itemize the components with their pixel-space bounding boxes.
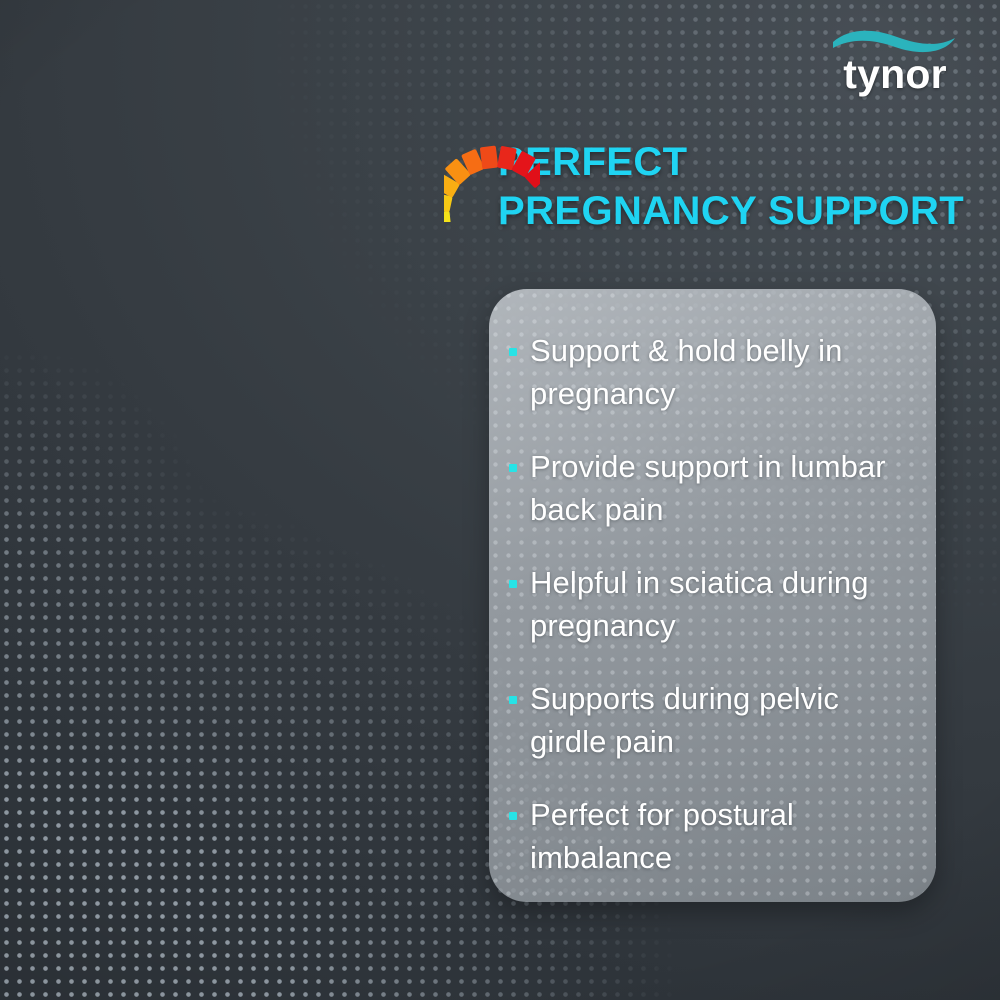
gauge-arc-icon xyxy=(444,138,540,222)
benefits-panel: Support & hold belly in pregnancy Provid… xyxy=(489,289,936,902)
bullet-square-icon xyxy=(509,580,517,588)
benefit-text: Helpful in sciatica during pregnancy xyxy=(530,561,910,647)
brand-logo[interactable]: tynor xyxy=(820,26,970,95)
list-item: Perfect for postural imbalance xyxy=(509,793,910,879)
promo-banner: tynor xyxy=(0,0,1000,1000)
list-item: Provide support in lumbar back pain xyxy=(509,445,910,531)
headline-line-2: PREGNANCY SUPPORT xyxy=(498,187,992,236)
bullet-square-icon xyxy=(509,696,517,704)
benefits-list: Support & hold belly in pregnancy Provid… xyxy=(489,289,936,879)
benefit-text: Perfect for postural imbalance xyxy=(530,793,910,879)
benefit-text: Support & hold belly in pregnancy xyxy=(530,329,910,415)
benefit-text: Provide support in lumbar back pain xyxy=(530,445,910,531)
benefit-text: Supports during pelvic girdle pain xyxy=(530,677,910,763)
brand-name: tynor xyxy=(820,54,970,95)
list-item: Supports during pelvic girdle pain xyxy=(509,677,910,763)
headline-block: PERFECT PREGNANCY SUPPORT xyxy=(444,138,992,236)
bullet-square-icon xyxy=(509,348,517,356)
list-item: Helpful in sciatica during pregnancy xyxy=(509,561,910,647)
product-image xyxy=(0,150,490,1000)
list-item: Support & hold belly in pregnancy xyxy=(509,329,910,415)
bullet-square-icon xyxy=(509,812,517,820)
bullet-square-icon xyxy=(509,464,517,472)
headline-line-1: PERFECT xyxy=(498,138,992,187)
